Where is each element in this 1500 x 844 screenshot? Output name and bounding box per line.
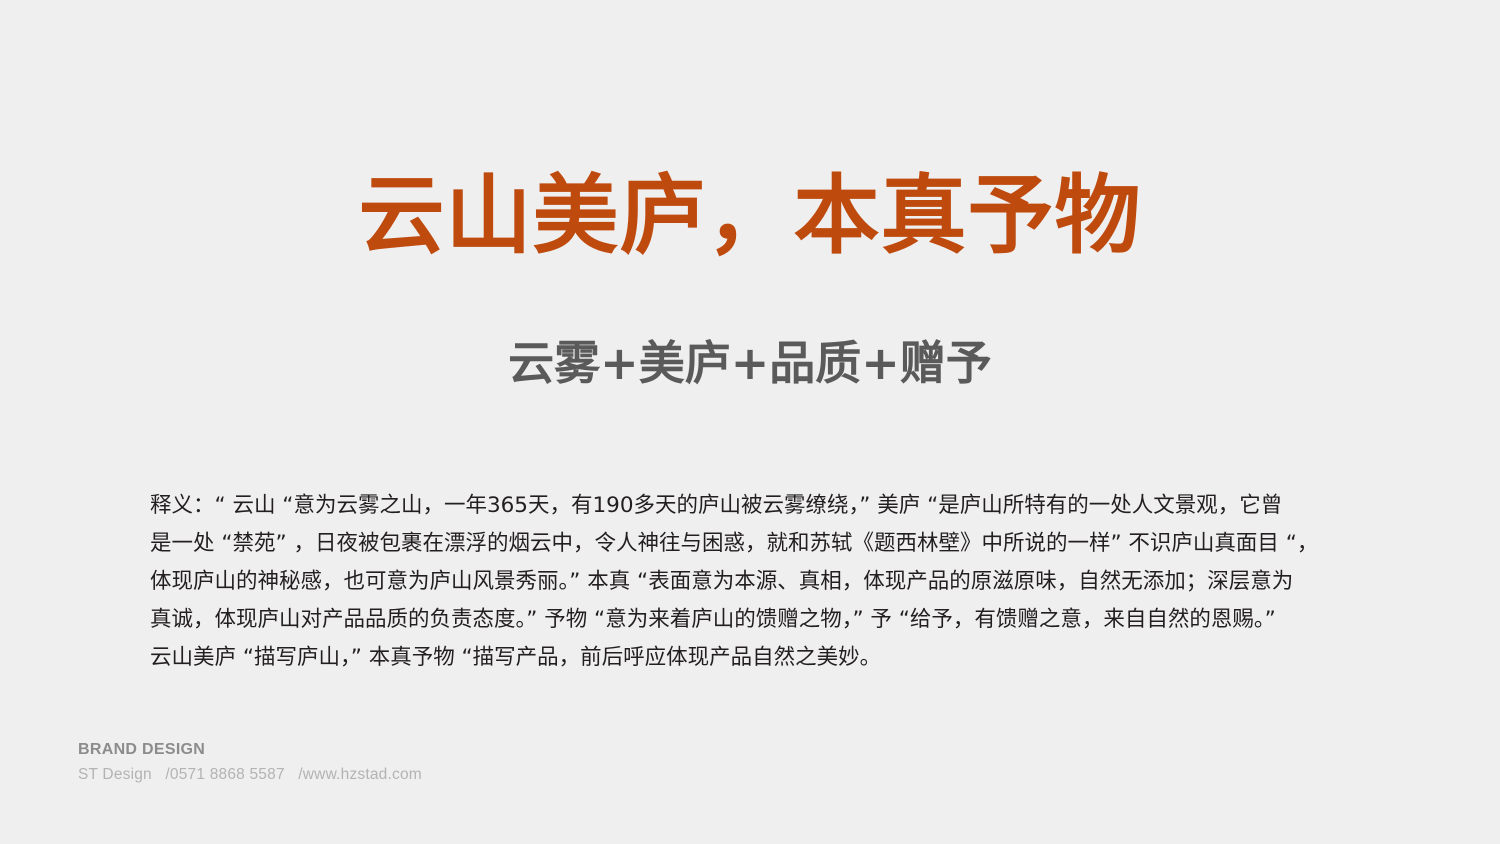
definition-line: 体现庐山的神秘感，也可意为庐山风景秀丽。” 本真 “表面意为本源、真相，体现产品… xyxy=(150,563,1360,601)
definition-line: 是一处 “禁苑” ，日夜被包裹在漂浮的烟云中，令人神往与困惑，就和苏轼《题西林壁… xyxy=(150,525,1360,563)
footer-contact-line: ST Design /0571 8868 5587 /www.hzstad.co… xyxy=(78,766,422,784)
presentation-slide: 云山美庐，本真予物 云雾+美庐+品质+赠予 释义：“ 云山 “意为云雾之山，一年… xyxy=(0,0,1500,844)
definition-paragraph: 释义：“ 云山 “意为云雾之山，一年365天，有190多天的庐山被云雾缭绕，” … xyxy=(150,487,1360,677)
definition-line: 云山美庐 “描写庐山，” 本真予物 “描写产品，前后呼应体现产品自然之美妙。 xyxy=(150,639,1360,677)
page-title: 云山美庐，本真予物 xyxy=(0,168,1500,264)
page-subtitle: 云雾+美庐+品质+赠予 xyxy=(0,336,1500,391)
definition-line: 释义：“ 云山 “意为云雾之山，一年365天，有190多天的庐山被云雾缭绕，” … xyxy=(150,487,1360,525)
slide-footer: BRAND DESIGN ST Design /0571 8868 5587 /… xyxy=(78,740,422,784)
definition-line: 真诚，体现庐山对产品品质的负责态度。” 予物 “意为来着庐山的馈赠之物，” 予 … xyxy=(150,601,1360,639)
footer-brand-label: BRAND DESIGN xyxy=(78,740,422,760)
